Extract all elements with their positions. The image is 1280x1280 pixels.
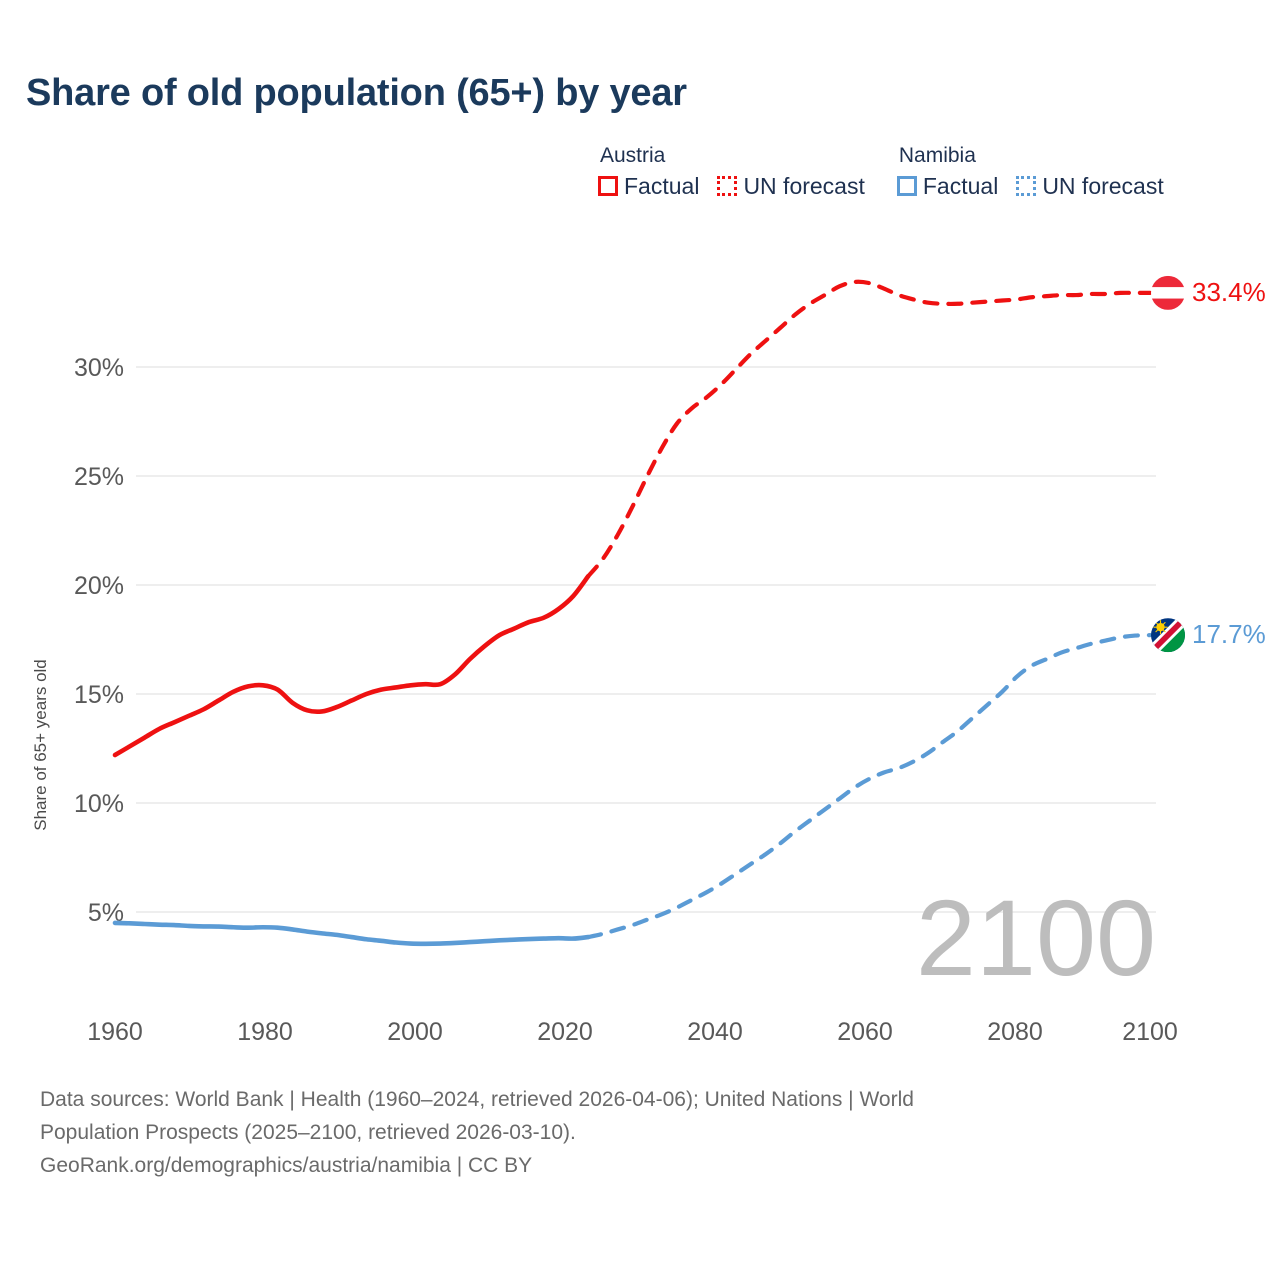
- plot-area: 5% 10% 15% 20% 25% 30% Share of 65+ year…: [0, 0, 1280, 1070]
- xtick-label: 2020: [537, 1018, 593, 1046]
- y-axis-ticks: 5% 10% 15% 20% 25% 30%: [74, 354, 124, 927]
- austria-flag-icon: [1151, 276, 1185, 310]
- series-namibia-factual: [115, 923, 588, 944]
- footer-line: Data sources: World Bank | Health (1960–…: [40, 1083, 1240, 1116]
- xtick-label: 1980: [237, 1018, 293, 1046]
- ytick-label: 20%: [74, 572, 124, 600]
- footer-sources: Data sources: World Bank | Health (1960–…: [40, 1083, 1240, 1182]
- xtick-label: 2000: [387, 1018, 443, 1046]
- ytick-label: 10%: [74, 790, 124, 818]
- gridlines: [136, 367, 1156, 912]
- x-axis-ticks: 1960 1980 2000 2020 2040 2060 2080 2100: [87, 1018, 1178, 1046]
- endpoint-layer: 33.4%17.7%: [1151, 276, 1266, 652]
- y-axis-label: Share of 65+ years old: [31, 659, 50, 831]
- series-layer: [115, 282, 1150, 944]
- footer-line: GeoRank.org/demographics/austria/namibia…: [40, 1149, 1240, 1182]
- series-austria-forecast: [588, 282, 1150, 577]
- watermark-year: 2100: [916, 877, 1156, 998]
- ytick-label: 30%: [74, 354, 124, 382]
- ytick-label: 15%: [74, 681, 124, 709]
- footer-line: Population Prospects (2025–2100, retriev…: [40, 1116, 1240, 1149]
- austria-endpoint: 33.4%: [1192, 277, 1266, 307]
- xtick-label: 2040: [687, 1018, 743, 1046]
- xtick-label: 1960: [87, 1018, 143, 1046]
- xtick-label: 2080: [987, 1018, 1043, 1046]
- chart-page: Share of old population (65+) by year Au…: [0, 0, 1280, 1280]
- namibia-flag-icon: [1151, 618, 1185, 652]
- xtick-label: 2100: [1122, 1018, 1178, 1046]
- series-austria-factual: [115, 576, 588, 755]
- ytick-label: 25%: [74, 463, 124, 491]
- namibia-endpoint: 17.7%: [1192, 619, 1266, 649]
- xtick-label: 2060: [837, 1018, 893, 1046]
